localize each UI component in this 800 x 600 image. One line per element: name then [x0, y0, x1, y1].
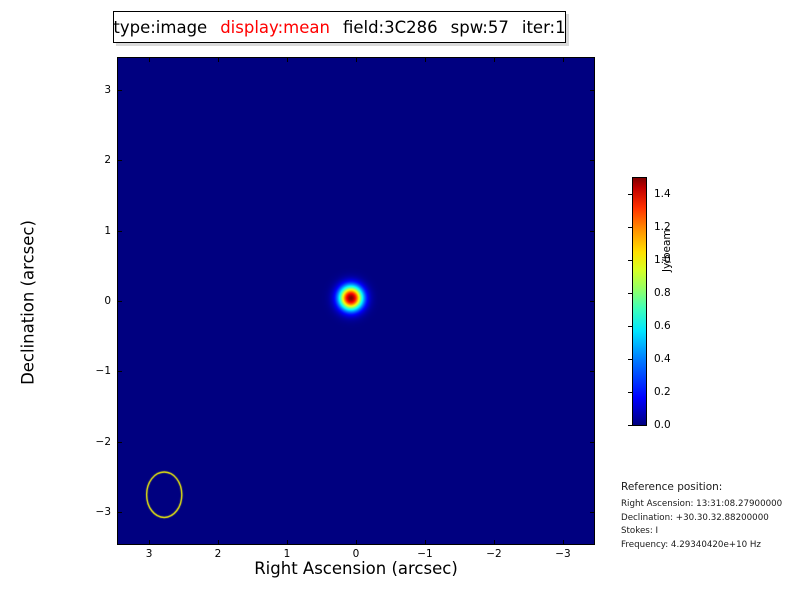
y-tick-label: 2	[83, 154, 111, 166]
y-tick	[590, 512, 594, 513]
x-tick	[149, 58, 150, 62]
y-tick	[118, 442, 122, 443]
colorbar-tick	[628, 194, 632, 195]
y-tick	[118, 160, 122, 161]
colorbar-tick	[628, 293, 632, 294]
sky-image-panel[interactable]	[117, 57, 595, 545]
image-status-bar: type:image display:mean field:3C286 spw:…	[113, 11, 566, 43]
reference-right-ascension: Right Ascension: 13:31:08.27900000	[621, 498, 799, 512]
y-tick	[118, 231, 122, 232]
reference-frequency: Frequency: 4.29340420e+10 Hz	[621, 539, 799, 553]
colorbar[interactable]: 0.00.20.40.60.81.01.21.4	[632, 177, 647, 426]
sky-image-canvas[interactable]	[118, 58, 594, 544]
x-axis-title: Right Ascension (arcsec)	[117, 559, 595, 578]
status-type: type:image	[113, 18, 207, 37]
x-tick	[149, 540, 150, 544]
x-tick	[218, 58, 219, 62]
y-tick	[590, 442, 594, 443]
viewer-root: type:image display:mean field:3C286 spw:…	[0, 0, 800, 600]
x-tick	[494, 540, 495, 544]
x-tick	[425, 58, 426, 62]
y-tick	[118, 301, 122, 302]
x-tick	[218, 540, 219, 544]
y-tick	[590, 231, 594, 232]
colorbar-tick-label: 0.4	[654, 353, 671, 365]
colorbar-tick	[628, 359, 632, 360]
x-tick	[287, 540, 288, 544]
y-tick	[590, 160, 594, 161]
y-tick-label: 3	[83, 84, 111, 96]
y-tick-label: −2	[83, 436, 111, 448]
colorbar-tick	[628, 392, 632, 393]
x-tick	[494, 58, 495, 62]
y-tick	[118, 90, 122, 91]
x-tick	[425, 540, 426, 544]
y-tick-label: −1	[83, 365, 111, 377]
colorbar-tick	[628, 326, 632, 327]
reference-declination: Declination: +30.30.32.88200000	[621, 512, 799, 526]
colorbar-tick	[628, 260, 632, 261]
reference-position-block: Reference position: Right Ascension: 13:…	[621, 481, 799, 552]
y-tick-label: 1	[83, 225, 111, 237]
colorbar-tick-label: 0.8	[654, 287, 671, 299]
status-display: display:mean	[220, 18, 330, 37]
reference-stokes: Stokes: I	[621, 525, 799, 539]
x-tick	[356, 540, 357, 544]
y-tick	[118, 371, 122, 372]
y-tick	[590, 90, 594, 91]
colorbar-tick-label: 0.0	[654, 419, 671, 431]
status-iter: iter:1	[522, 18, 566, 37]
x-tick	[563, 58, 564, 62]
status-spw: spw:57	[451, 18, 509, 37]
y-tick	[590, 301, 594, 302]
colorbar-tick-label: 0.2	[654, 386, 671, 398]
colorbar-unit-label: Jy/beam	[661, 192, 673, 272]
x-tick	[287, 58, 288, 62]
colorbar-tick	[628, 425, 632, 426]
reference-position-heading: Reference position:	[621, 481, 799, 493]
y-tick-label: −3	[83, 506, 111, 518]
x-tick	[563, 540, 564, 544]
y-tick-label: 0	[83, 295, 111, 307]
x-tick	[356, 58, 357, 62]
status-field: field:3C286	[343, 18, 438, 37]
y-tick	[590, 371, 594, 372]
y-axis-title: Declination (arcsec)	[19, 153, 38, 453]
colorbar-tick	[628, 227, 632, 228]
colorbar-tick-label: 0.6	[654, 320, 671, 332]
y-tick	[118, 512, 122, 513]
